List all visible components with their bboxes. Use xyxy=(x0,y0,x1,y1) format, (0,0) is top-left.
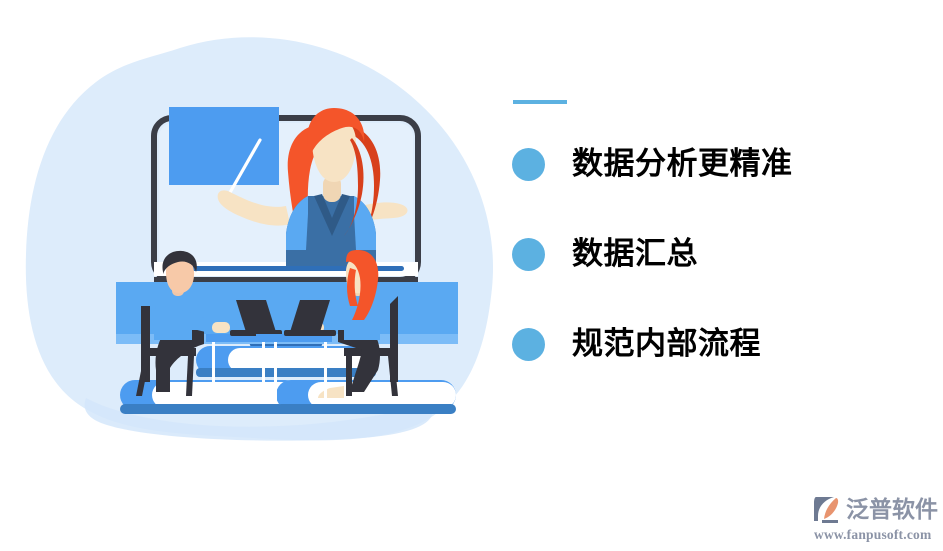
feature-item-1[interactable]: 数据分析更精准 xyxy=(512,147,932,181)
feature-list: 数据分析更精准 数据汇总 规范内部流程 xyxy=(512,100,932,361)
desk-right-leg-b xyxy=(324,342,327,400)
feature-label: 数据分析更精准 xyxy=(572,147,793,181)
desk-right-leg-a xyxy=(262,342,265,400)
bullet-icon xyxy=(512,238,545,271)
slide-canvas: 数据分析更精准 数据汇总 规范内部流程 泛普软件 www.fanpusoft.c… xyxy=(0,0,943,551)
feature-item-3[interactable]: 规范内部流程 xyxy=(512,327,932,361)
book-step-bottom-left xyxy=(120,380,300,414)
accent-bar xyxy=(513,100,567,104)
bullet-icon xyxy=(512,328,545,361)
bullet-icon xyxy=(512,148,545,181)
brand-watermark: 泛普软件 www.fanpusoft.com xyxy=(812,492,938,544)
desk-left-leg-a xyxy=(212,342,215,400)
feature-label: 数据汇总 xyxy=(572,237,698,271)
logo-url: www.fanpusoft.com xyxy=(814,527,938,543)
desk-left-leg-b xyxy=(274,342,277,400)
fanpu-logo-icon xyxy=(812,494,844,524)
logo-top-row: 泛普软件 xyxy=(812,492,938,526)
feature-item-2[interactable]: 数据汇总 xyxy=(512,237,932,271)
feature-label: 规范内部流程 xyxy=(572,327,761,361)
laptop-right-base xyxy=(284,330,336,336)
student-left-hand xyxy=(212,322,230,333)
logo-wordmark: 泛普软件 xyxy=(846,494,938,524)
presentation-board xyxy=(169,107,279,185)
illustration-online-training xyxy=(0,0,520,500)
